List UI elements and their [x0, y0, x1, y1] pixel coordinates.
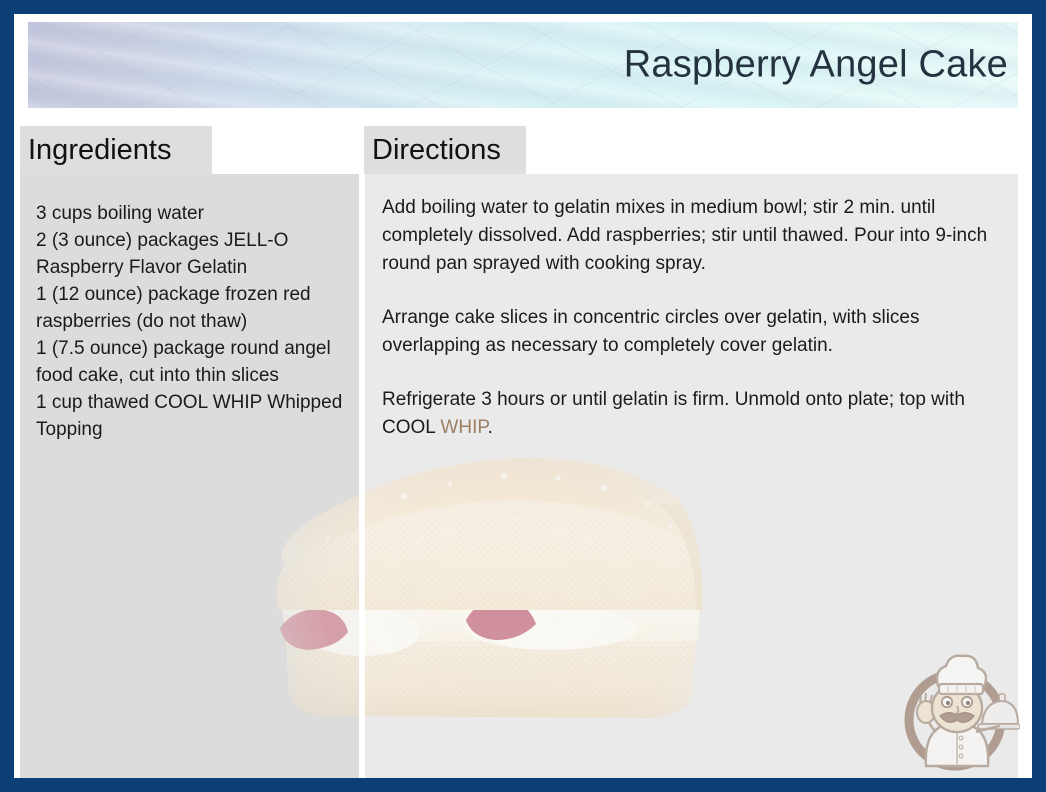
directions-list: Add boiling water to gelatin mixes in me… [364, 174, 1018, 442]
ingredients-list: 3 cups boiling water2 (3 ounce) packages… [20, 174, 359, 443]
page-title: Raspberry Angel Cake [624, 44, 1008, 87]
tab-ingredients-label: Ingredients [28, 136, 172, 165]
tab-directions[interactable]: Directions [364, 126, 526, 174]
whip-highlight: WHIP [440, 417, 487, 438]
directions-panel: Add boiling water to gelatin mixes in me… [364, 174, 1018, 778]
header-banner: Raspberry Angel Cake [28, 22, 1018, 108]
tab-directions-label: Directions [372, 136, 501, 165]
direction-step: Refrigerate 3 hours or until gelatin is … [382, 386, 996, 442]
ingredient-item: 2 (3 ounce) packages JELL-O Raspberry Fl… [36, 227, 349, 281]
tab-ingredients[interactable]: Ingredients [20, 126, 212, 174]
ingredient-item: 1 (12 ounce) package frozen red raspberr… [36, 281, 349, 335]
ingredient-item: 1 (7.5 ounce) package round angel food c… [36, 335, 349, 389]
direction-step: Arrange cake slices in concentric circle… [382, 304, 996, 360]
ingredients-panel: 3 cups boiling water2 (3 ounce) packages… [20, 174, 359, 778]
direction-step: Add boiling water to gelatin mixes in me… [382, 194, 996, 278]
ingredient-item: 3 cups boiling water [36, 200, 349, 227]
recipe-card-inner: Raspberry Angel Cake Ingredients Directi… [14, 14, 1032, 778]
ingredient-item: 1 cup thawed COOL WHIP Whipped Topping [36, 389, 349, 443]
recipe-card-frame: Raspberry Angel Cake Ingredients Directi… [0, 0, 1046, 792]
column-divider [359, 174, 365, 778]
